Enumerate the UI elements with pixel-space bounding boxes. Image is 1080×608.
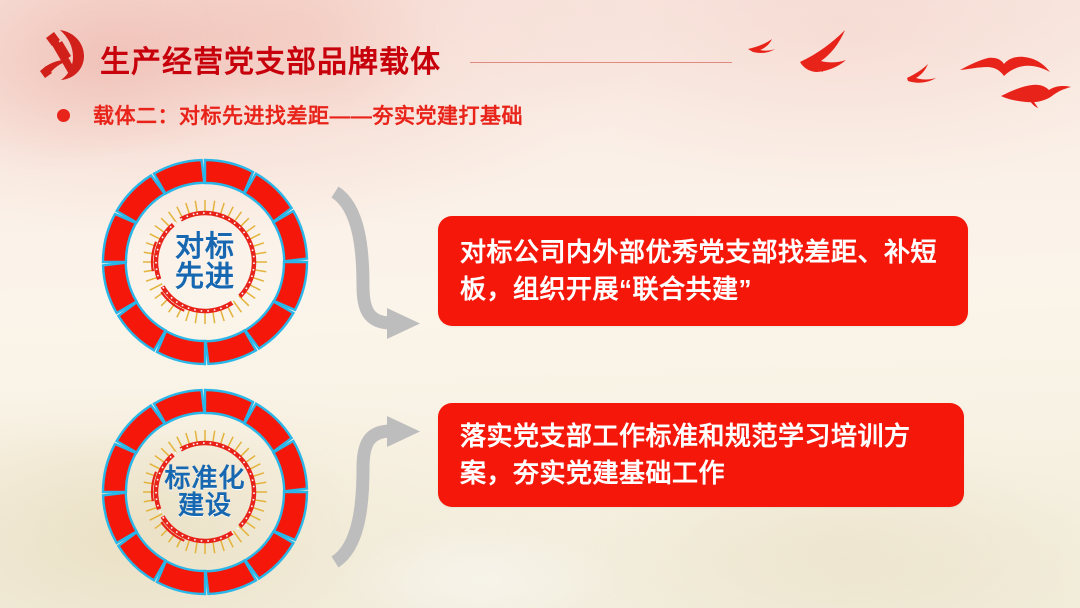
content-box-2-text: 落实党支部工作标准和规范学习培训方案，夯实党建基础工作 xyxy=(438,418,964,492)
page-title: 生产经营党支部品牌载体 xyxy=(100,37,441,81)
badge-label-line2: 建设 xyxy=(178,492,232,519)
badge-label: 标准化 建设 xyxy=(99,386,311,598)
content-box-2: 落实党支部工作标准和规范学习培训方案，夯实党建基础工作 xyxy=(438,403,964,507)
content-box-1-text: 对标公司内外部优秀党支部找差距、补短板，组织开展“联合共建” xyxy=(438,234,968,308)
subtitle-text: 载体二：对标先进找差距——夯实党建打基础 xyxy=(93,100,523,130)
badge-label-line1: 对标 xyxy=(175,232,235,262)
curved-arrow-up-right-icon xyxy=(327,412,447,572)
content-box-1: 对标公司内外部优秀党支部找差距、补短板，组织开展“联合共建” xyxy=(438,216,968,326)
badge-label-line2: 先进 xyxy=(175,262,235,292)
slide-canvas: 生产经营党支部品牌载体 载体二：对标先进找差距——夯实党建打基础 xyxy=(0,0,1080,608)
badge-duibiao-xianjin: 对标 先进 xyxy=(99,156,311,368)
curved-arrow-down-right-icon xyxy=(327,182,447,342)
flying-birds-icon xyxy=(745,14,1080,126)
bullet-dot-icon xyxy=(57,109,70,122)
badge-label-line1: 标准化 xyxy=(164,465,245,492)
subtitle-row: 载体二：对标先进找差距——夯实党建打基础 xyxy=(57,100,523,130)
badge-label: 对标 先进 xyxy=(99,156,311,368)
party-emblem-icon xyxy=(30,26,92,84)
badge-biaozhunhua-jianshe: 标准化 建设 xyxy=(99,386,311,598)
title-divider xyxy=(470,62,732,63)
